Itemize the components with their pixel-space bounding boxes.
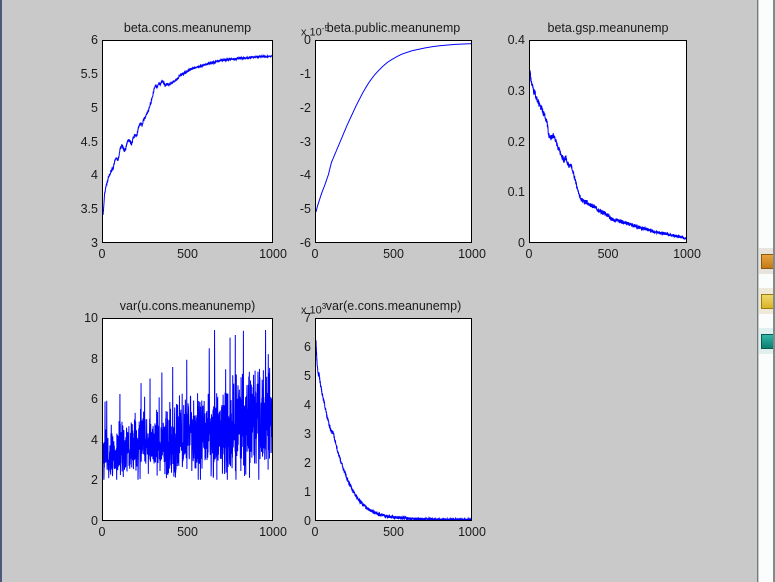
- y-tick-label: 5.5: [72, 68, 98, 81]
- plot-line-beta-gsp-meanunemp: [530, 41, 686, 242]
- exponent-base: x 10: [301, 305, 322, 317]
- x-tick-label: 0: [526, 248, 533, 261]
- x-tick-label: 1000: [458, 248, 486, 261]
- y-tick-label: -6: [285, 237, 311, 250]
- y-tick-label: 3.5: [72, 203, 98, 216]
- background-window-row-2: [759, 288, 773, 314]
- axes-box[interactable]: [315, 318, 472, 521]
- y-tick-label: 0.1: [497, 186, 525, 199]
- y-tick-label: 10: [72, 312, 98, 325]
- plot-line-beta-cons-meanunemp: [103, 41, 272, 242]
- y-tick-label: 6: [72, 393, 98, 406]
- x-tick-label: 0: [99, 526, 106, 539]
- plot-title: var(e.cons.meanunemp): [315, 300, 472, 313]
- background-window-sliver[interactable]: [757, 0, 775, 582]
- axes-box[interactable]: [315, 40, 472, 243]
- y-tick-label: 8: [72, 352, 98, 365]
- x-tick-label: 500: [383, 248, 404, 261]
- exponent-base: x 10: [301, 27, 322, 39]
- y-tick-label: 7: [285, 312, 311, 325]
- plot-title: beta.cons.meanunemp: [102, 22, 273, 35]
- plot-title: beta.public.meanunemp: [315, 22, 472, 35]
- y-tick-label: 0.3: [497, 85, 525, 98]
- background-window-row-3: [759, 328, 773, 354]
- matlab-figure-window[interactable]: beta.cons.meanunemp33.544.555.5605001000…: [0, 0, 757, 582]
- x-tick-label: 1000: [259, 248, 287, 261]
- plot-title: beta.gsp.meanunemp: [529, 22, 687, 35]
- y-tick-label: -5: [285, 203, 311, 216]
- y-tick-label: 5: [285, 370, 311, 383]
- y-tick-label: 2: [72, 474, 98, 487]
- y-tick-label: -2: [285, 101, 311, 114]
- y-tick-label: 0: [285, 515, 311, 528]
- y-tick-label: -4: [285, 169, 311, 182]
- axis-exponent-label: x 103: [301, 303, 326, 317]
- y-tick-label: 6: [285, 341, 311, 354]
- y-tick-label: 4.5: [72, 135, 98, 148]
- x-tick-label: 500: [177, 248, 198, 261]
- y-tick-label: 6: [72, 34, 98, 47]
- y-tick-label: 3: [285, 428, 311, 441]
- y-tick-label: 0: [285, 34, 311, 47]
- y-tick-label: 0: [497, 237, 525, 250]
- y-tick-label: 5: [72, 101, 98, 114]
- y-tick-label: -3: [285, 135, 311, 148]
- x-tick-label: 1000: [259, 526, 287, 539]
- axes-box[interactable]: [102, 318, 273, 521]
- plot-line-beta-public-meanunemp: [316, 41, 471, 242]
- axes-box[interactable]: [529, 40, 687, 243]
- y-tick-label: 0: [72, 515, 98, 528]
- y-tick-label: 0.4: [497, 34, 525, 47]
- x-tick-label: 0: [312, 526, 319, 539]
- y-tick-label: 0.2: [497, 135, 525, 148]
- exponent-power: 3: [322, 302, 326, 311]
- plot-title: var(u.cons.meanunemp): [102, 300, 273, 313]
- x-tick-label: 1000: [458, 526, 486, 539]
- y-tick-label: 3: [72, 237, 98, 250]
- x-tick-label: 500: [383, 526, 404, 539]
- y-tick-label: 2: [285, 457, 311, 470]
- axes-box[interactable]: [102, 40, 273, 243]
- x-tick-label: 1000: [673, 248, 701, 261]
- x-tick-label: 500: [598, 248, 619, 261]
- y-tick-label: 1: [285, 486, 311, 499]
- y-tick-label: 4: [72, 434, 98, 447]
- y-tick-label: -1: [285, 68, 311, 81]
- x-tick-label: 0: [99, 248, 106, 261]
- x-tick-label: 500: [177, 526, 198, 539]
- background-window-row-1: [759, 248, 773, 274]
- exponent-power: -5: [322, 24, 329, 33]
- plot-line-var-u-cons-meanunemp: [103, 319, 272, 520]
- y-tick-label: 4: [285, 399, 311, 412]
- axis-exponent-label: x 10-5: [301, 25, 329, 39]
- y-tick-label: 4: [72, 169, 98, 182]
- x-tick-label: 0: [312, 248, 319, 261]
- plot-line-var-e-cons-meanunemp: [316, 319, 471, 520]
